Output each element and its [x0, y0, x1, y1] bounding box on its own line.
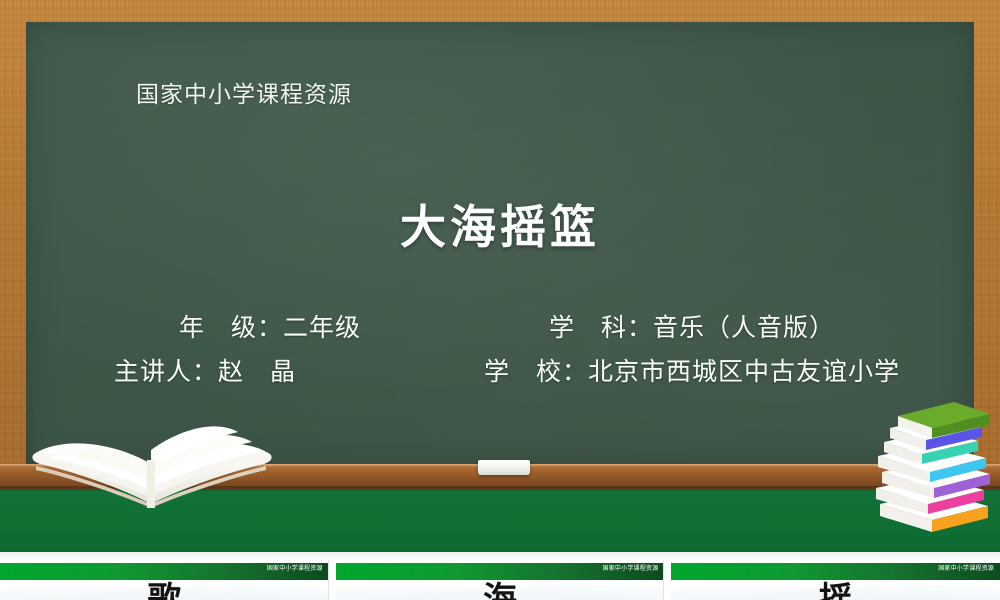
- thumbnail-divider: [663, 560, 664, 600]
- meta-teacher: 主讲人：赵 晶: [100, 350, 484, 394]
- thumbnail-header-label: 国家中小学课程资源: [603, 563, 659, 574]
- meta-row: 年 级：二年级学 科：音乐（人音版）: [0, 306, 1000, 350]
- thumbnail-divider: [328, 560, 329, 600]
- slide-meta-block: 年 级：二年级学 科：音乐（人音版） 主讲人：赵 晶学 校：北京市西城区中古友谊…: [0, 306, 1000, 394]
- thumbnail-header-label: 国家中小学课程资源: [267, 563, 323, 574]
- current-slide[interactable]: 国家中小学课程资源 大海摇篮 年 级：二年级学 科：音乐（人音版） 主讲人：赵 …: [0, 0, 1000, 560]
- floor-bottom-edge: [0, 552, 1000, 560]
- thumbnail-glyph: 摇: [819, 583, 853, 600]
- meta-grade: 年 级：二年级: [165, 306, 549, 350]
- meta-school: 学 校：北京市西城区中古友谊小学: [484, 350, 900, 394]
- slide-title: 大海摇篮: [0, 198, 1000, 256]
- slide-thumbnail[interactable]: 国家中小学课程资源 摇: [671, 560, 1000, 600]
- thumbnail-glyph: 海: [483, 583, 517, 600]
- open-book-icon: [6, 412, 296, 514]
- meta-subject: 学 科：音乐（人音版）: [549, 306, 835, 350]
- presentation-viewer: 国家中小学课程资源 大海摇篮 年 级：二年级学 科：音乐（人音版） 主讲人：赵 …: [0, 0, 1000, 600]
- stacked-books-icon: [866, 396, 998, 536]
- meta-row: 主讲人：赵 晶学 校：北京市西城区中古友谊小学: [0, 350, 1000, 394]
- slide-brand-label: 国家中小学课程资源: [136, 80, 352, 110]
- thumbnail-glyph: 歌: [147, 583, 181, 600]
- slide-thumbnail-strip[interactable]: 国家中小学课程资源 歌 国家中小学课程资源 海 国家中小学课程资源 摇: [0, 560, 1000, 600]
- slide-thumbnail[interactable]: 国家中小学课程资源 歌: [0, 560, 329, 600]
- thumbnail-header-label: 国家中小学课程资源: [938, 563, 994, 574]
- eraser-icon: [478, 460, 530, 475]
- slide-thumbnail[interactable]: 国家中小学课程资源 海: [336, 560, 665, 600]
